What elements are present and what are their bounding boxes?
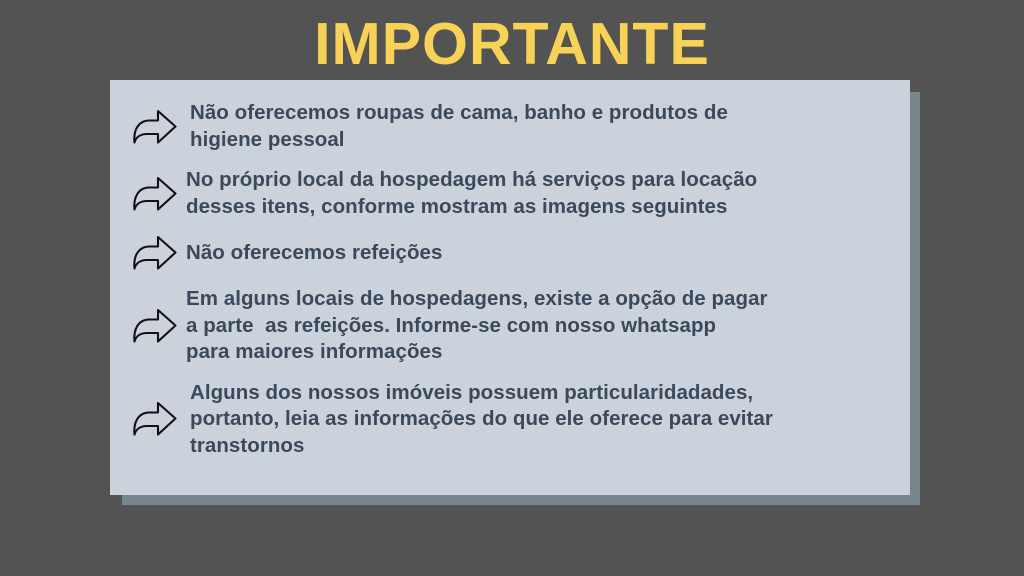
curved-right-arrow-icon	[130, 234, 180, 272]
list-item: Não oferecemos refeições	[130, 234, 870, 272]
bullet-list: Não oferecemos roupas de cama, banho e p…	[130, 100, 870, 459]
curved-right-arrow-icon	[130, 108, 180, 146]
list-item-label: Não oferecemos refeições	[186, 240, 870, 267]
list-item: No próprio local da hospedagem há serviç…	[130, 167, 870, 220]
list-item-label: Em alguns locais de hospedagens, existe …	[186, 286, 870, 366]
list-item: Não oferecemos roupas de cama, banho e p…	[130, 100, 870, 153]
page-title: IMPORTANTE	[0, 13, 1024, 75]
curved-right-arrow-icon	[130, 175, 180, 213]
list-item-label: No próprio local da hospedagem há serviç…	[186, 167, 870, 220]
list-item-label: Alguns dos nossos imóveis possuem partic…	[186, 380, 870, 460]
list-item: Alguns dos nossos imóveis possuem partic…	[130, 380, 870, 460]
slide-canvas: IMPORTANTE Não oferecemos roupas de cama…	[0, 0, 1024, 576]
curved-right-arrow-icon	[130, 400, 180, 438]
list-item-label: Não oferecemos roupas de cama, banho e p…	[186, 100, 870, 153]
content-panel: Não oferecemos roupas de cama, banho e p…	[110, 80, 910, 495]
list-item: Em alguns locais de hospedagens, existe …	[130, 286, 870, 366]
curved-right-arrow-icon	[130, 307, 180, 345]
